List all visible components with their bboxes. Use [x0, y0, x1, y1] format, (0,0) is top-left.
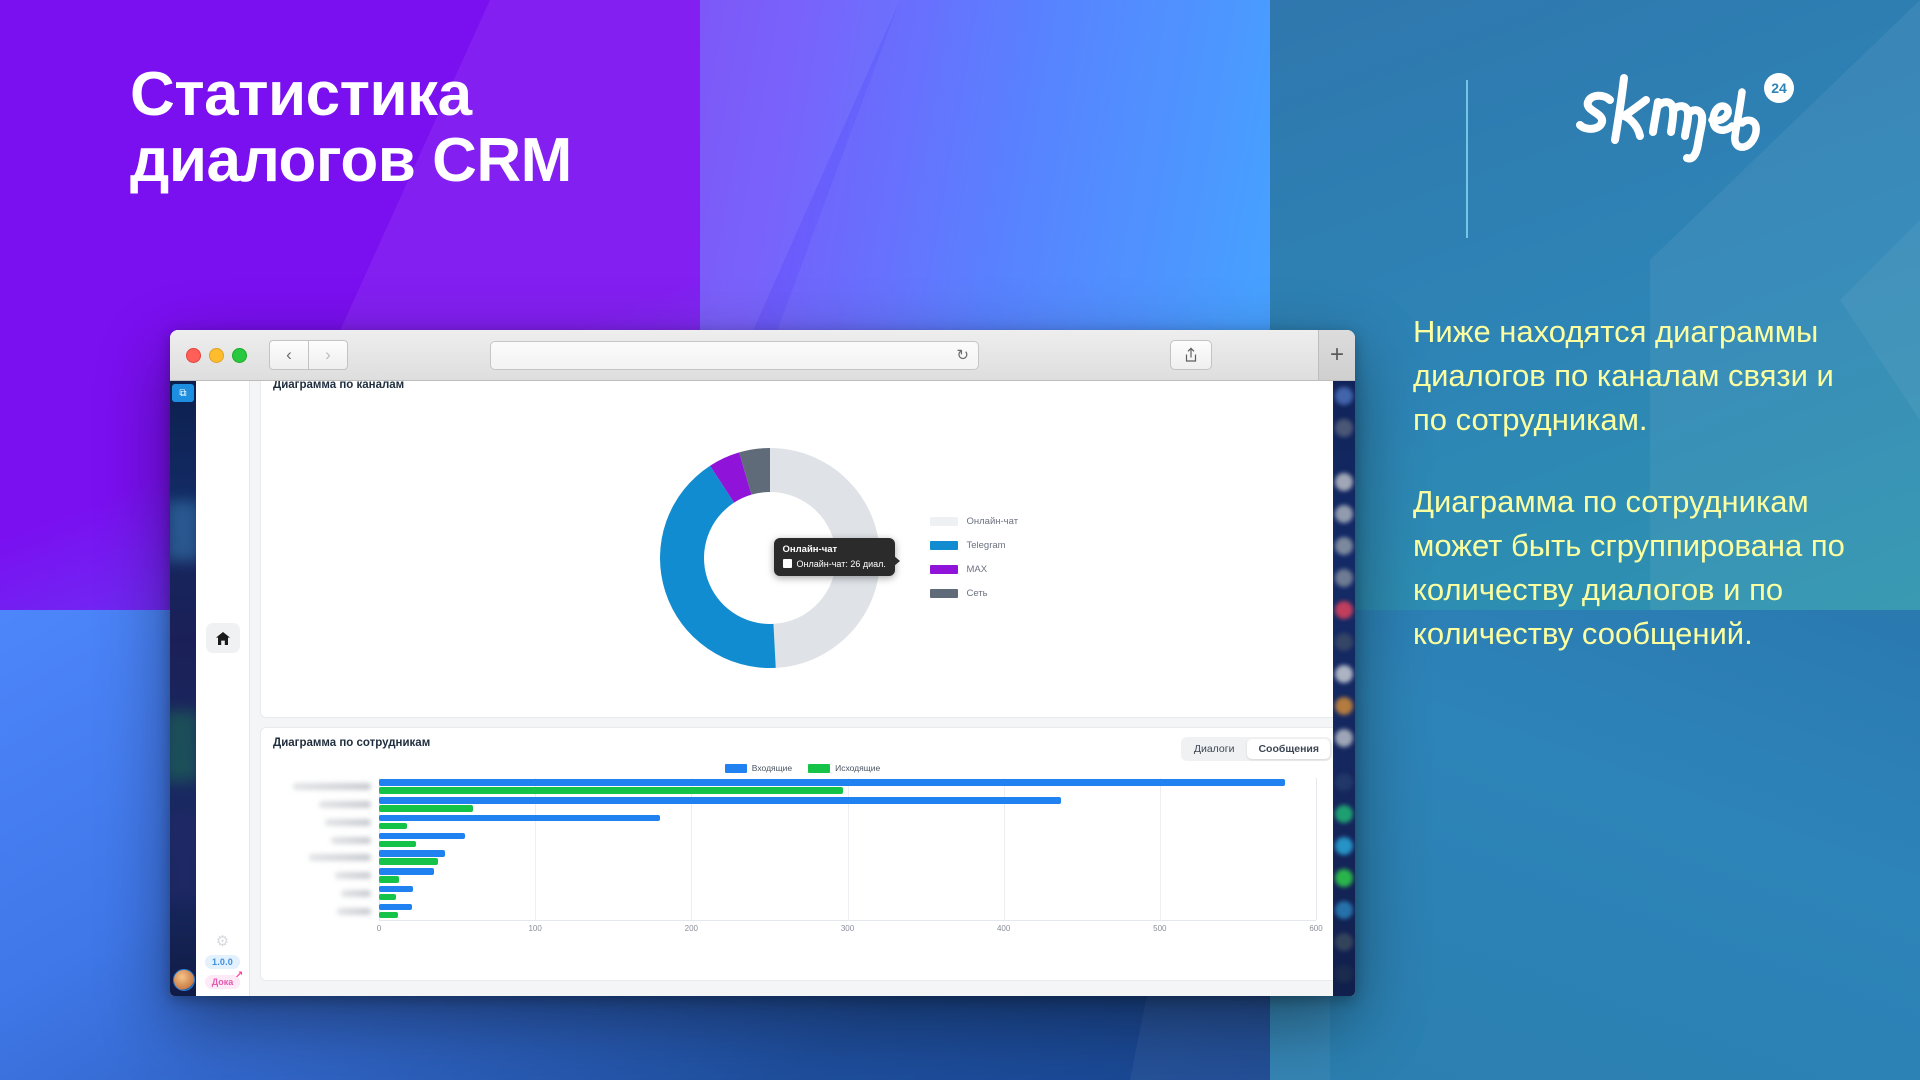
- app-left-rail: ⧉: [170, 381, 196, 996]
- employee-name-label: [309, 854, 371, 861]
- x-tick-label-200: 200: [685, 924, 698, 933]
- employees-bar-chart: 0100200300400500600: [275, 778, 1330, 946]
- bar-outgoing[interactable]: [379, 912, 398, 919]
- legend-item-incoming[interactable]: Входящие: [725, 763, 792, 773]
- header-divider: [1466, 80, 1468, 238]
- legend-swatch-telegram: [930, 541, 958, 550]
- employee-name-label: [293, 783, 371, 790]
- employees-chart-card: Диаграмма по сотрудникам Диалоги Сообщен…: [260, 727, 1345, 981]
- navigation-buttons: ‹ ›: [269, 340, 348, 370]
- description-paragraph-1: Ниже находятся диаграммы диалогов по кан…: [1413, 310, 1853, 442]
- sidebar-footer: ⚙ 1.0.0 Дока ↗: [196, 934, 249, 989]
- app-content: Диаграмма по каналам: [250, 381, 1355, 996]
- legend-swatch-network: [930, 589, 958, 598]
- app-sidebar: ⚙ 1.0.0 Дока ↗: [196, 381, 250, 996]
- bar-incoming[interactable]: [379, 850, 445, 857]
- bar-incoming[interactable]: [379, 904, 412, 911]
- bar-incoming[interactable]: [379, 797, 1061, 804]
- employee-name-label: [337, 908, 371, 915]
- legend-swatch-online-chat: [930, 517, 958, 526]
- close-window-button[interactable]: [186, 348, 201, 363]
- toggle-option-messages[interactable]: Сообщения: [1247, 739, 1330, 759]
- browser-window: ‹ › ↻ + ⧉: [170, 330, 1355, 996]
- browser-titlebar: ‹ › ↻ +: [170, 330, 1355, 381]
- donut-tooltip-value: Онлайн-чат: 26 диал.: [797, 559, 886, 569]
- legend-swatch-incoming: [725, 764, 747, 773]
- employee-name-labels: [275, 778, 375, 920]
- bar-incoming[interactable]: [379, 779, 1285, 786]
- description-text: Ниже находятся диаграммы диалогов по кан…: [1413, 310, 1853, 656]
- table-row[interactable]: [379, 849, 1316, 867]
- skyweb-logo: 24: [1566, 66, 1816, 166]
- sidebar-item-home[interactable]: [206, 623, 240, 653]
- employees-chart-title: Диаграмма по сотрудникам: [273, 737, 430, 749]
- x-tick-label-300: 300: [841, 924, 854, 933]
- employees-legend: Входящие Исходящие: [261, 763, 1344, 773]
- x-tick-label-100: 100: [528, 924, 541, 933]
- donut-tooltip-row: Онлайн-чат: 26 диал.: [783, 559, 886, 569]
- page-title-line-2: диалогов CRM: [130, 128, 890, 194]
- chart-axis-line: [379, 920, 1316, 921]
- toggle-option-dialogs[interactable]: Диалоги: [1183, 739, 1246, 759]
- chart-x-axis: 0100200300400500600: [379, 924, 1316, 940]
- donut-tooltip-title: Онлайн-чат: [783, 544, 886, 555]
- donut-slice-telegram: [660, 465, 776, 667]
- employee-name-label: [335, 872, 371, 879]
- zoom-window-button[interactable]: [232, 348, 247, 363]
- employee-name-label: [325, 819, 371, 826]
- docs-link[interactable]: Дока ↗: [205, 975, 241, 989]
- legend-item-max[interactable]: MAX: [930, 564, 1019, 575]
- x-tick-label-500: 500: [1153, 924, 1166, 933]
- table-row[interactable]: [379, 814, 1316, 832]
- window-controls: [186, 348, 247, 363]
- employees-chart-header: Диаграмма по сотрудникам Диалоги Сообщен…: [261, 728, 1344, 761]
- gridline-600: [1316, 778, 1317, 920]
- forward-button[interactable]: ›: [309, 340, 348, 370]
- minimize-window-button[interactable]: [209, 348, 224, 363]
- donut-holder: Онлайн-чат Онлайн-чат: 26 диал.: [568, 408, 1038, 708]
- legend-item-outgoing[interactable]: Исходящие: [808, 763, 880, 773]
- channels-chart-title: Диаграмма по каналам: [261, 381, 416, 397]
- reload-icon[interactable]: ↻: [956, 348, 969, 363]
- bar-outgoing[interactable]: [379, 894, 396, 901]
- bar-incoming[interactable]: [379, 886, 413, 893]
- x-tick-label-400: 400: [997, 924, 1010, 933]
- channels-donut-chart: Онлайн-чат Онлайн-чат: 26 диал.: [646, 434, 894, 682]
- chart-bars: [379, 778, 1316, 920]
- logo-badge-text: 24: [1771, 80, 1787, 96]
- legend-swatch-max: [930, 565, 958, 574]
- x-tick-label-600: 600: [1309, 924, 1322, 933]
- app-body: ⧉ ⚙ 1.0.0 Дока ↗: [170, 381, 1355, 996]
- bar-outgoing[interactable]: [379, 805, 473, 812]
- new-tab-button[interactable]: +: [1318, 330, 1355, 380]
- page-title-line-1: Статистика: [130, 62, 890, 128]
- bar-outgoing[interactable]: [379, 823, 407, 830]
- legend-label-incoming: Входящие: [752, 763, 792, 773]
- address-bar[interactable]: ↻: [490, 341, 979, 370]
- legend-label-outgoing: Исходящие: [835, 763, 880, 773]
- legend-swatch-outgoing: [808, 764, 830, 773]
- table-row[interactable]: [379, 796, 1316, 814]
- employee-name-label: [341, 890, 371, 897]
- table-row[interactable]: [379, 902, 1316, 920]
- employee-name-label: [331, 837, 371, 844]
- legend-item-network[interactable]: Сеть: [930, 588, 1019, 599]
- slide: Статистика диалогов CRM 24 Ниже находятс…: [0, 0, 1920, 1080]
- table-row[interactable]: [379, 778, 1316, 796]
- description-paragraph-2: Диаграмма по сотрудникам может быть сгру…: [1413, 480, 1853, 656]
- legend-label-network: Сеть: [967, 588, 988, 599]
- bar-outgoing[interactable]: [379, 841, 416, 848]
- gear-icon[interactable]: ⚙: [216, 934, 229, 949]
- table-row[interactable]: [379, 831, 1316, 849]
- bar-outgoing[interactable]: [379, 858, 438, 865]
- x-tick-label-0: 0: [377, 924, 381, 933]
- employees-grouping-toggle: Диалоги Сообщения: [1181, 737, 1332, 761]
- channels-donut-area: Онлайн-чат Онлайн-чат: 26 диал.: [261, 398, 1344, 717]
- bar-outgoing[interactable]: [379, 876, 399, 883]
- donut-tooltip: Онлайн-чат Онлайн-чат: 26 диал.: [774, 538, 895, 576]
- share-icon[interactable]: [1170, 340, 1212, 370]
- employee-name-label: [319, 801, 371, 808]
- channels-chart-card: Диаграмма по каналам: [260, 381, 1345, 718]
- background-bottom-right: [1270, 610, 1920, 1080]
- external-link-icon[interactable]: ⧉: [172, 384, 194, 402]
- legend-label-max: MAX: [967, 564, 988, 575]
- bar-incoming[interactable]: [379, 815, 660, 822]
- bar-incoming[interactable]: [379, 833, 465, 840]
- docs-link-label: Дока: [212, 977, 234, 987]
- channels-legend: Онлайн-чат Telegram MAX: [930, 516, 1019, 599]
- back-button[interactable]: ‹: [269, 340, 309, 370]
- page-title: Статистика диалогов CRM: [130, 62, 890, 195]
- legend-item-telegram[interactable]: Telegram: [930, 540, 1019, 551]
- bar-incoming[interactable]: [379, 868, 434, 875]
- legend-label-online-chat: Онлайн-чат: [967, 516, 1019, 527]
- table-row[interactable]: [379, 867, 1316, 885]
- legend-label-telegram: Telegram: [967, 540, 1006, 551]
- bar-outgoing[interactable]: [379, 787, 843, 794]
- legend-item-online-chat[interactable]: Онлайн-чат: [930, 516, 1019, 527]
- table-row[interactable]: [379, 885, 1316, 903]
- version-badge: 1.0.0: [205, 955, 240, 969]
- donut-tooltip-swatch: [783, 559, 792, 568]
- avatar[interactable]: [173, 969, 195, 991]
- desktop-dock: [1333, 381, 1355, 996]
- external-arrow-icon: ↗: [235, 970, 243, 981]
